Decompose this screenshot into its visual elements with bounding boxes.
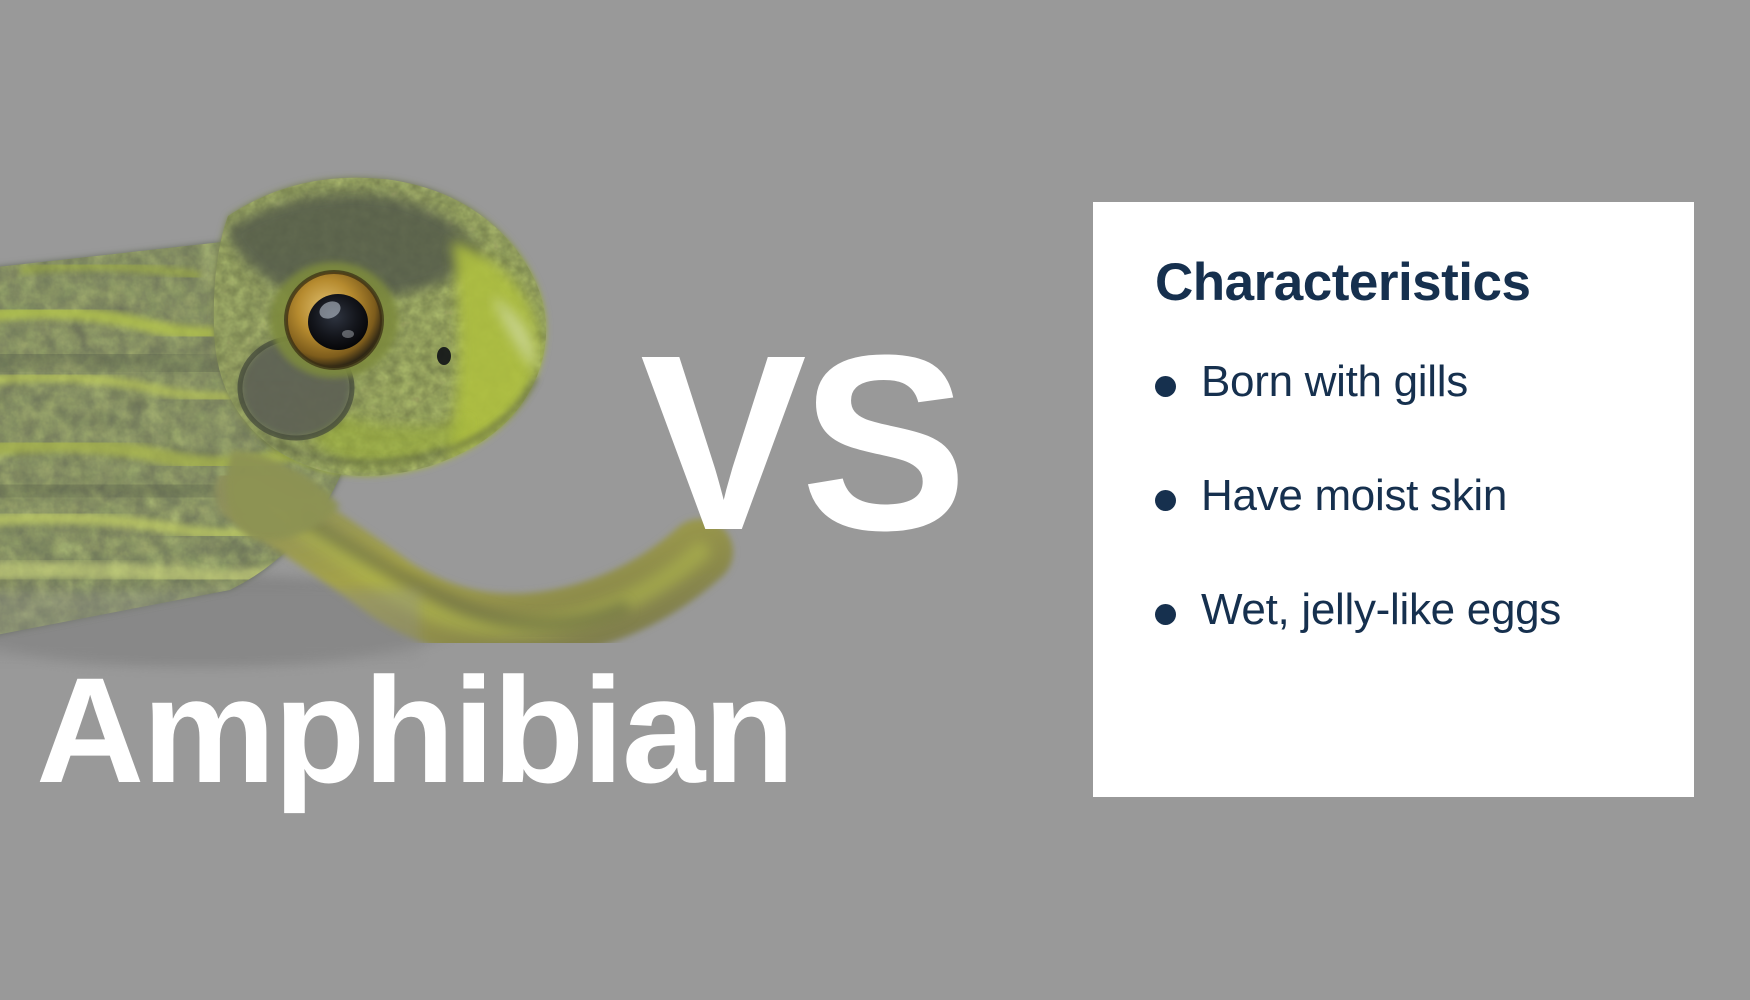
bullet-dot-icon [1155, 490, 1176, 511]
card-heading: Characteristics [1155, 254, 1674, 312]
characteristics-list: Born with gills Have moist skin Wet, jel… [1155, 356, 1674, 636]
bullet-dot-icon [1155, 604, 1176, 625]
characteristics-card: Characteristics Born with gills Have moi… [1093, 202, 1694, 797]
slide-canvas: VS Amphibian Characteristics Born with g… [0, 0, 1750, 1000]
list-item: Wet, jelly-like eggs [1155, 584, 1674, 636]
list-item-label: Wet, jelly-like eggs [1201, 585, 1561, 634]
frog-eye [270, 262, 398, 378]
list-item: Born with gills [1155, 356, 1674, 408]
versus-label: VS [640, 318, 940, 568]
bullet-dot-icon [1155, 376, 1176, 397]
frog-nostril [437, 347, 451, 365]
list-item: Have moist skin [1155, 470, 1674, 522]
list-item-label: Have moist skin [1201, 471, 1507, 520]
list-item-label: Born with gills [1201, 357, 1468, 406]
category-title: Amphibian [36, 655, 793, 805]
